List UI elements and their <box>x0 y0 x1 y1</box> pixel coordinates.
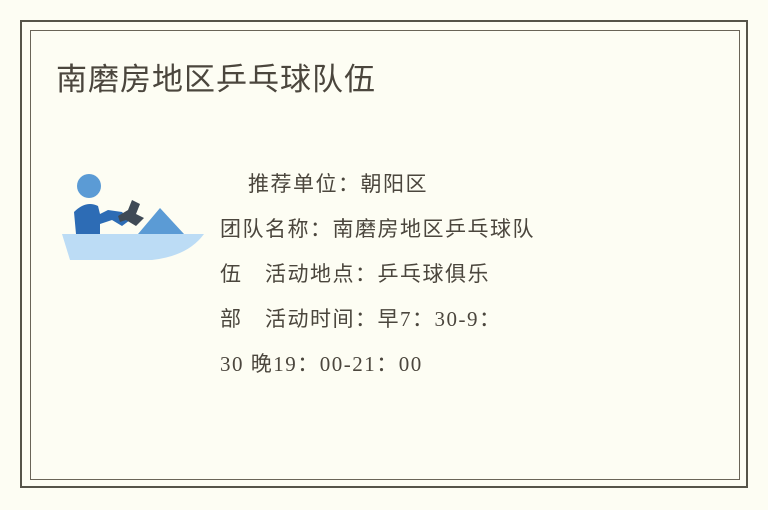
team-details-text: 推荐单位：朝阳区 团队名称：南磨房地区乒乓球队 伍 活动地点：乒乓球俱乐 部 活… <box>220 160 686 387</box>
rowing-person-boat-icon <box>56 168 206 268</box>
detail-line-1: 推荐单位：朝阳区 <box>248 172 428 196</box>
illustration-sail <box>138 208 184 234</box>
detail-line-5: 30 晚19：00-21：00 <box>220 352 423 376</box>
illustration-head <box>77 174 101 198</box>
content-row: 推荐单位：朝阳区 团队名称：南磨房地区乒乓球队 伍 活动地点：乒乓球俱乐 部 活… <box>56 160 686 387</box>
page-title: 南磨房地区乒乓球队伍 <box>56 58 376 102</box>
detail-line-3: 伍 活动地点：乒乓球俱乐 <box>220 262 490 286</box>
detail-line-4: 部 活动时间：早7：30-9： <box>220 307 502 331</box>
illustration-hull <box>62 234 204 260</box>
detail-line-2: 团队名称：南磨房地区乒乓球队 <box>220 217 535 241</box>
poster-page: 南磨房地区乒乓球队伍 推荐单位：朝阳区 团队名称：南磨房地区乒乓球队 伍 活动地… <box>0 0 768 510</box>
